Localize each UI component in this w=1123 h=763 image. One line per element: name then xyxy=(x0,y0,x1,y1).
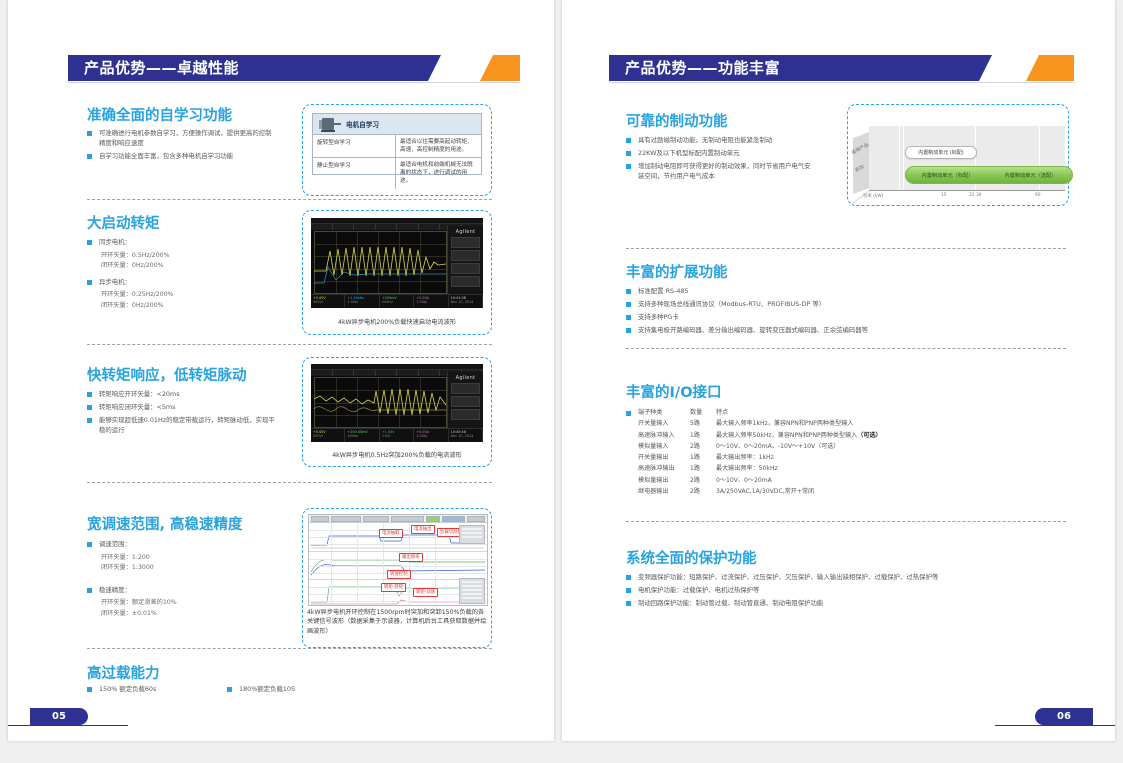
section-heading-overload: 高过载能力 xyxy=(87,662,160,683)
cell-desc: 最适合以往需要高起动转矩、高速、高控制精度的用途。 xyxy=(396,135,481,157)
section-heading-start-torque: 大启动转矩 xyxy=(87,212,160,233)
annotation-tag: 输出频率 xyxy=(399,553,423,562)
annotation-tag: 电流抽出 xyxy=(411,525,435,534)
bar-builtin-standard: 内置制动单元 (标配) xyxy=(905,146,977,159)
bullet-square-icon xyxy=(626,411,631,416)
table-row: 高速脉冲输出 1路 最大输出频率：50kHz xyxy=(638,463,938,474)
list-item: 支持多种现场总线通讯协议（Modbus-RTU、PROFIBUS-DP 等） xyxy=(626,300,906,310)
table-header: 电机自学习 xyxy=(313,114,481,135)
list-item: 180%额定负载10S xyxy=(227,685,387,695)
list-item: 转矩响应开环矢量：<20ms xyxy=(87,390,277,400)
divider xyxy=(87,482,492,483)
cell-count: 1路 xyxy=(690,463,716,474)
list-item: 电机保护功能：过载保护、电机过热保护等 xyxy=(626,586,1056,596)
bullets-self-learning: 可准确进行电机参数自学习，方便操作调试，提供更高的控制精度和响应速度 自学习功能… xyxy=(87,129,277,165)
page-right: 产品优势——功能丰富 可靠的制动功能 具有过励磁制动功能，无制动电阻也能紧急制动… xyxy=(562,0,1115,741)
agilent-logo: Agilent xyxy=(448,229,483,235)
sub-line: 闭环矢量：0Hz/200% xyxy=(87,261,277,270)
bullets-speed-range: 调速范围： 开环矢量：1:200 闭环矢量：1:3000 稳速精度： 开环矢量：… xyxy=(87,540,277,619)
list-item: 自学习功能全面丰富，包含多种电机自学习功能 xyxy=(87,152,277,162)
list-item: 支持多种PG卡 xyxy=(626,313,906,323)
left-banner-title: 产品优势——卓越性能 xyxy=(84,55,239,81)
table-row: 模拟量输入 2路 0～10V、0～20mA、-10V～+10V（可选） xyxy=(638,441,938,452)
bullets-protection: 变频器保护功能：短路保护、过流保护、过压保护、欠压保护、输入输出缺相保护、过载保… xyxy=(626,573,1056,612)
list-item: 制动回路保护功能：制动管过载、制动管直通、制动电阻保护功能 xyxy=(626,599,1056,609)
cell-feature: 3A/250VAC,1A/30VDC,常开+常闭 xyxy=(716,486,938,497)
plot-legend-box-top xyxy=(459,525,485,544)
bullets-start-torque: 同步电机： 开环矢量：0.5Hz/200% 闭环矢量：0Hz/200% 异步电机… xyxy=(87,238,277,311)
divider xyxy=(87,199,492,200)
section-heading-expansion: 丰富的扩展功能 xyxy=(626,261,728,282)
brochure-spread: 产品优势——卓越性能 准确全面的自学习功能 可准确进行电机参数自学习，方便操作调… xyxy=(0,0,1123,763)
annotation-tag: 转速控制 xyxy=(387,570,411,579)
section-heading-protection: 系统全面的保护功能 xyxy=(626,547,757,568)
cell-count: 5路 xyxy=(690,418,716,429)
cell-feature: 最大输出频率：1kHz xyxy=(716,452,938,463)
list-item: 稳速精度： xyxy=(87,586,277,596)
scope-statusbar: +5.00V500V/ +1.00kHz1.00k/ +200mV200m/ +… xyxy=(311,294,483,308)
bullets-brake: 具有过励磁制动功能，无制动电阻也能紧急制动 22KW及以下机型标配内置制动单元 … xyxy=(626,136,816,185)
cell-count: 2路 xyxy=(690,475,716,486)
section-heading-self-learning: 准确全面的自学习功能 xyxy=(87,104,232,125)
cell-name: 静止型自学习 xyxy=(313,158,396,188)
right-footer-line xyxy=(995,725,1115,726)
table-row: 开关量输出 1路 最大输出频率：1kHz xyxy=(638,452,938,463)
cell-count: 1路 xyxy=(690,430,716,441)
table-row: 静止型自学习 最适合电机和前端机械无法脱离的状态下，进行调试的用途。 xyxy=(313,158,481,188)
figure-caption-3: 4kW异步电机开环控制在1500rpm时突加和突卸150%负载的各关键信号波形（… xyxy=(307,608,487,636)
plot-legend-box-bottom xyxy=(459,578,485,604)
list-item: 转矩响应闭环矢量：<5ms xyxy=(87,403,277,413)
list-item: 可准确进行电机参数自学习，方便操作调试，提供更高的控制精度和响应速度 xyxy=(87,129,277,149)
measurement-plot-window: 电流抽取 电流抽出 负载切除阶段 输出频率 转速控制 xyxy=(308,514,488,606)
table-title: 电机自学习 xyxy=(346,119,379,129)
table-row: 高速脉冲输入 1路 最大输入频率50kHz，兼容NPN和PNP两种类型输入（可选… xyxy=(638,430,938,441)
io-table: 端子种类 数量 特点 开关量输入 5路 最大输入频率1kHz，兼容NPN和PNP… xyxy=(638,407,938,497)
list-item: 具有过励磁制动功能，无制动电阻也能紧急制动 xyxy=(626,136,816,146)
scope-sidepanel: Agilent xyxy=(447,372,483,428)
section-heading-speed-range: 宽调速范围, 高稳速精度 xyxy=(87,513,243,534)
cell-feature: 0～10V、0～20mA、-10V～+10V（可选） xyxy=(716,441,938,452)
cell-name: 旋转型自学习 xyxy=(313,135,396,157)
x-tick: 15 xyxy=(941,193,947,198)
list-item: 同步电机： xyxy=(87,238,277,248)
list-item: 能够实现超低速0.01Hz的稳定带载运行，转矩脉动低，实现平稳的运行 xyxy=(87,416,277,436)
col-header-feature: 特点 xyxy=(716,407,938,418)
cell-type: 模拟量输入 xyxy=(638,441,690,452)
x-tick: 22 30 xyxy=(969,193,982,198)
cell-type: 高速脉冲输出 xyxy=(638,463,690,474)
list-item: 增加制动电阻即可获得更好的制动效果，同时节省用户电气安装空间，节约用户电气成本 xyxy=(626,162,816,182)
list-item: 异步电机： xyxy=(87,278,277,288)
table-row: 继电器输出 2路 3A/250VAC,1A/30VDC,常开+常闭 xyxy=(638,486,938,497)
x-tick: 90 xyxy=(1035,193,1041,198)
bullets-torque-response: 转矩响应开环矢量：<20ms 转矩响应闭环矢量：<5ms 能够实现超低速0.01… xyxy=(87,390,277,439)
agilent-logo: Agilent xyxy=(448,375,483,381)
page-left: 产品优势——卓越性能 准确全面的自学习功能 可准确进行电机参数自学习，方便操作调… xyxy=(8,0,554,741)
scope-sidepanel: Agilent xyxy=(447,226,483,294)
section-heading-torque-response: 快转矩响应，低转矩脉动 xyxy=(87,364,247,385)
cell-type: 开关量输出 xyxy=(638,452,690,463)
right-banner-accent xyxy=(1039,55,1074,81)
table-header-row: 端子种类 数量 特点 xyxy=(638,407,938,418)
cell-count: 2路 xyxy=(690,486,716,497)
list-item: 调速范围： xyxy=(87,540,277,550)
col-header-type: 端子种类 xyxy=(638,407,690,418)
cell-feature: 最大输入频率1kHz，兼容NPN和PNP两种类型输入 xyxy=(716,418,938,429)
section-heading-brake: 可靠的制动功能 xyxy=(626,110,728,131)
oscilloscope-screenshot-1: Agilent +5.00V500V/ +1.00kHz1.00k/ +200m… xyxy=(311,218,483,308)
table-row: 开关量输入 5路 最大输入频率1kHz，兼容NPN和PNP两种类型输入 xyxy=(638,418,938,429)
right-banner-underline xyxy=(609,82,1074,83)
sub-line: 开环矢量：0.5Hz/200% xyxy=(87,251,277,260)
cell-feature: 最大输出频率：50kHz xyxy=(716,463,938,474)
list-item: 150% 额定负载60s xyxy=(87,685,227,695)
cell-count: 1路 xyxy=(690,452,716,463)
divider xyxy=(87,648,492,649)
brake-range-chart: 适用产品 系列 内置制动单元 (标配) 内置制动单元（标配） 内置制动单元（选配… xyxy=(853,112,1068,207)
sub-line: 闭环矢量：0Hz/200% xyxy=(87,301,277,310)
bar-group-green: 内置制动单元（标配） 内置制动单元（选配） xyxy=(905,166,1073,184)
left-banner-accent xyxy=(493,55,520,81)
figure-caption-2: 4kW异步电机0.5Hz突加200%负载的电流波形 xyxy=(308,451,486,460)
table-row: 模拟量输出 2路 0～10V、0～20mA xyxy=(638,475,938,486)
cell-feature-text: 最大输入频率50kHz，兼容NPN和PNP两种类型输入 xyxy=(716,432,857,439)
page-number-left: 05 xyxy=(30,708,88,725)
annotation-tag: 转矩-转矩 xyxy=(381,583,406,592)
sub-line: 开环矢量：0.25Hz/200% xyxy=(87,290,277,299)
cell-type: 开关量输入 xyxy=(638,418,690,429)
annotation-tag: 电流抽取 xyxy=(379,529,403,538)
annotation-tag: 转矩-动速 xyxy=(413,588,438,597)
divider xyxy=(87,344,492,345)
cell-type: 高速脉冲输入 xyxy=(638,430,690,441)
cell-desc: 最适合电机和前端机械无法脱离的状态下，进行调试的用途。 xyxy=(396,158,481,188)
sub-line: 开环矢量：1:200 xyxy=(87,553,277,562)
list-item: 22KW及以下机型标配内置制动单元 xyxy=(626,149,816,159)
page-number-right: 06 xyxy=(1035,708,1093,725)
right-banner: 产品优势——功能丰富 xyxy=(609,55,1074,81)
bar-label-optional: 内置制动单元（选配） xyxy=(989,172,1072,179)
left-banner: 产品优势——卓越性能 xyxy=(68,55,520,81)
divider xyxy=(626,521,1066,522)
list-item: 支持集电极开路编码器、差分输出编码器、旋转变压器式编码器、正余弦编码器等 xyxy=(626,326,906,336)
sub-line: 闭环矢量：1:3000 xyxy=(87,563,277,572)
bullets-expansion: 标准配置 RS-485 支持多种现场总线通讯协议（Modbus-RTU、PROF… xyxy=(626,287,906,339)
chart-floor-edge xyxy=(869,190,1065,191)
sub-line: 开环矢量：额定滑差的10% xyxy=(87,598,277,607)
table-row: 旋转型自学习 最适合以往需要高起动转矩、高速、高控制精度的用途。 xyxy=(313,135,481,158)
divider xyxy=(626,348,1066,349)
scope-waveform-2 xyxy=(314,377,446,428)
cell-type: 继电器输出 xyxy=(638,486,690,497)
x-axis-title: 功率 (kW) xyxy=(863,193,884,199)
cell-feature: 最大输入频率50kHz，兼容NPN和PNP两种类型输入（可选） xyxy=(716,430,938,441)
motor-icon xyxy=(319,118,341,130)
scope-waveform-1 xyxy=(314,231,446,294)
oscilloscope-screenshot-2: Agilent +5.00V500V/ +200.00mV200m/ +1.00… xyxy=(311,364,483,442)
cell-type: 模拟量输出 xyxy=(638,475,690,486)
plot-panel-2: 输出频率 转速控制 xyxy=(309,552,487,580)
left-footer-line xyxy=(8,725,128,726)
col-header-count: 数量 xyxy=(690,407,716,418)
motor-self-learning-table: 电机自学习 旋转型自学习 最适合以往需要高起动转矩、高速、高控制精度的用途。 静… xyxy=(312,113,482,175)
cell-count: 2路 xyxy=(690,441,716,452)
left-banner-underline xyxy=(68,82,520,83)
cell-feature: 0～10V、0～20mA xyxy=(716,475,938,486)
scope-statusbar: +5.00V500V/ +200.00mV200m/ +1.00V1.00/ +… xyxy=(311,428,483,442)
bar-label-standard: 内置制动单元（标配） xyxy=(906,172,989,179)
list-item: 变频器保护功能：短路保护、过流保护、过压保护、欠压保护、输入输出缺相保护、过载保… xyxy=(626,573,1056,583)
figure-caption-1: 4kW异步电机200%负载快速启动电流波形 xyxy=(308,318,486,327)
plot-toolbar xyxy=(309,515,487,523)
sub-line: 闭环矢量：±0.01% xyxy=(87,609,277,618)
section-heading-io: 丰富的I/O接口 xyxy=(626,381,722,402)
cell-feature-note: （可选） xyxy=(857,432,881,439)
right-banner-title: 产品优势——功能丰富 xyxy=(625,55,780,81)
list-item: 标准配置 RS-485 xyxy=(626,287,906,297)
divider xyxy=(626,248,1066,249)
bullets-overload: 150% 额定负载60s 180%额定负载10S xyxy=(87,685,417,698)
